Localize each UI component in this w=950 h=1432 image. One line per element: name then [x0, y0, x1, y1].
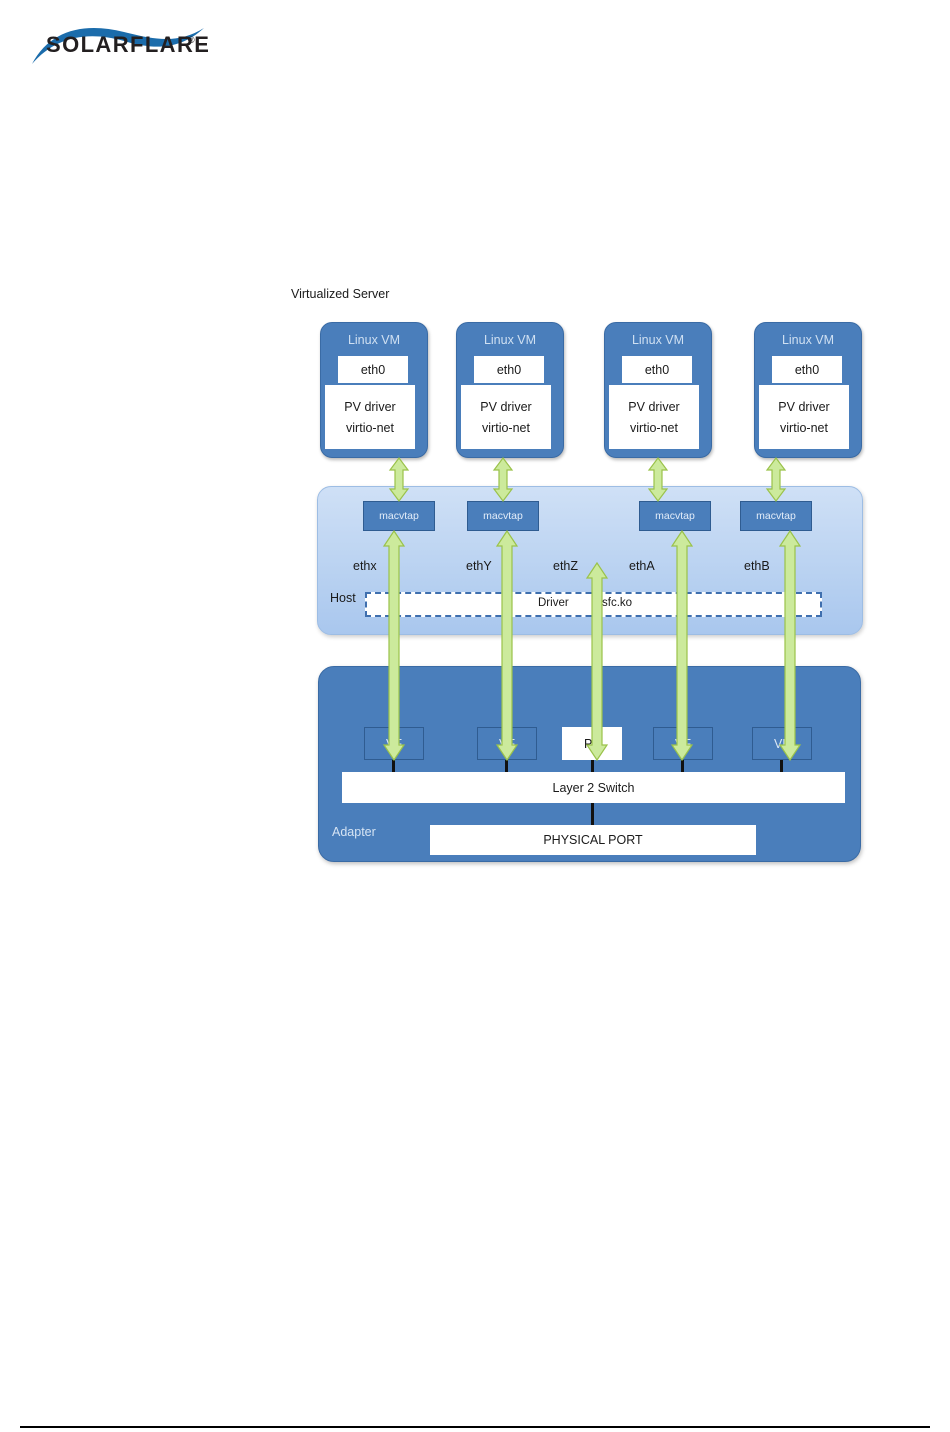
layer2-switch-bar: Layer 2 Switch: [342, 772, 845, 803]
vm-driver-line1: PV driver: [628, 400, 679, 414]
vm-title: Linux VM: [605, 334, 711, 347]
sriov-macvtap-architecture-diagram: Virtualized Server Linux VM eth0 PV driv…: [0, 0, 950, 900]
vm-card: Linux VM eth0 PV driver virtio-net: [456, 322, 564, 458]
vm-driver-line1: PV driver: [778, 400, 829, 414]
switch-port-connector: [591, 803, 594, 826]
macvtap-box: macvtap: [467, 501, 539, 531]
driver-label: Driver: [538, 598, 569, 610]
vm-interface-box: eth0: [622, 356, 692, 383]
vm-driver-line2: virtio-net: [780, 421, 828, 435]
vm-driver-box: PV driver virtio-net: [609, 385, 699, 449]
diagram-title: Virtualized Server: [291, 288, 389, 301]
vm-card: Linux VM eth0 PV driver virtio-net: [604, 322, 712, 458]
vf-box: VF: [653, 727, 713, 760]
vm-card: Linux VM eth0 PV driver virtio-net: [320, 322, 428, 458]
eth-label: ethY: [466, 560, 492, 573]
macvtap-box: macvtap: [639, 501, 711, 531]
vf-box: VF: [477, 727, 537, 760]
vm-driver-box: PV driver virtio-net: [325, 385, 415, 449]
vf-box: VF: [752, 727, 812, 760]
vm-interface-box: eth0: [474, 356, 544, 383]
macvtap-box: macvtap: [740, 501, 812, 531]
vm-title: Linux VM: [457, 334, 563, 347]
vm-driver-box: PV driver virtio-net: [461, 385, 551, 449]
footer-divider: [20, 1426, 930, 1428]
vm-driver-box: PV driver virtio-net: [759, 385, 849, 449]
eth-label: ethB: [744, 560, 770, 573]
eth-label: ethA: [629, 560, 655, 573]
vf-switch-connector: [392, 760, 395, 772]
vm-interface-box: eth0: [772, 356, 842, 383]
host-driver-box: [365, 592, 822, 617]
vm-title: Linux VM: [755, 334, 861, 347]
vm-card: Linux VM eth0 PV driver virtio-net: [754, 322, 862, 458]
vf-switch-connector: [780, 760, 783, 772]
physical-port-box: PHYSICAL PORT: [430, 825, 756, 855]
vf-box: VF: [364, 727, 424, 760]
macvtap-box: macvtap: [363, 501, 435, 531]
pf-box: PF: [562, 727, 622, 760]
vf-switch-connector: [505, 760, 508, 772]
adapter-label: Adapter: [332, 826, 376, 839]
vm-title: Linux VM: [321, 334, 427, 347]
host-label: Host: [330, 592, 356, 605]
eth-label: ethZ: [553, 560, 578, 573]
vm-driver-line2: virtio-net: [346, 421, 394, 435]
eth-label: ethx: [353, 560, 377, 573]
vm-driver-line2: virtio-net: [482, 421, 530, 435]
pf-switch-connector: [591, 760, 594, 772]
driver-module-name: sfc.ko: [602, 598, 632, 610]
vm-driver-line1: PV driver: [480, 400, 531, 414]
vm-driver-line2: virtio-net: [630, 421, 678, 435]
vm-driver-line1: PV driver: [344, 400, 395, 414]
vm-interface-box: eth0: [338, 356, 408, 383]
vf-switch-connector: [681, 760, 684, 772]
